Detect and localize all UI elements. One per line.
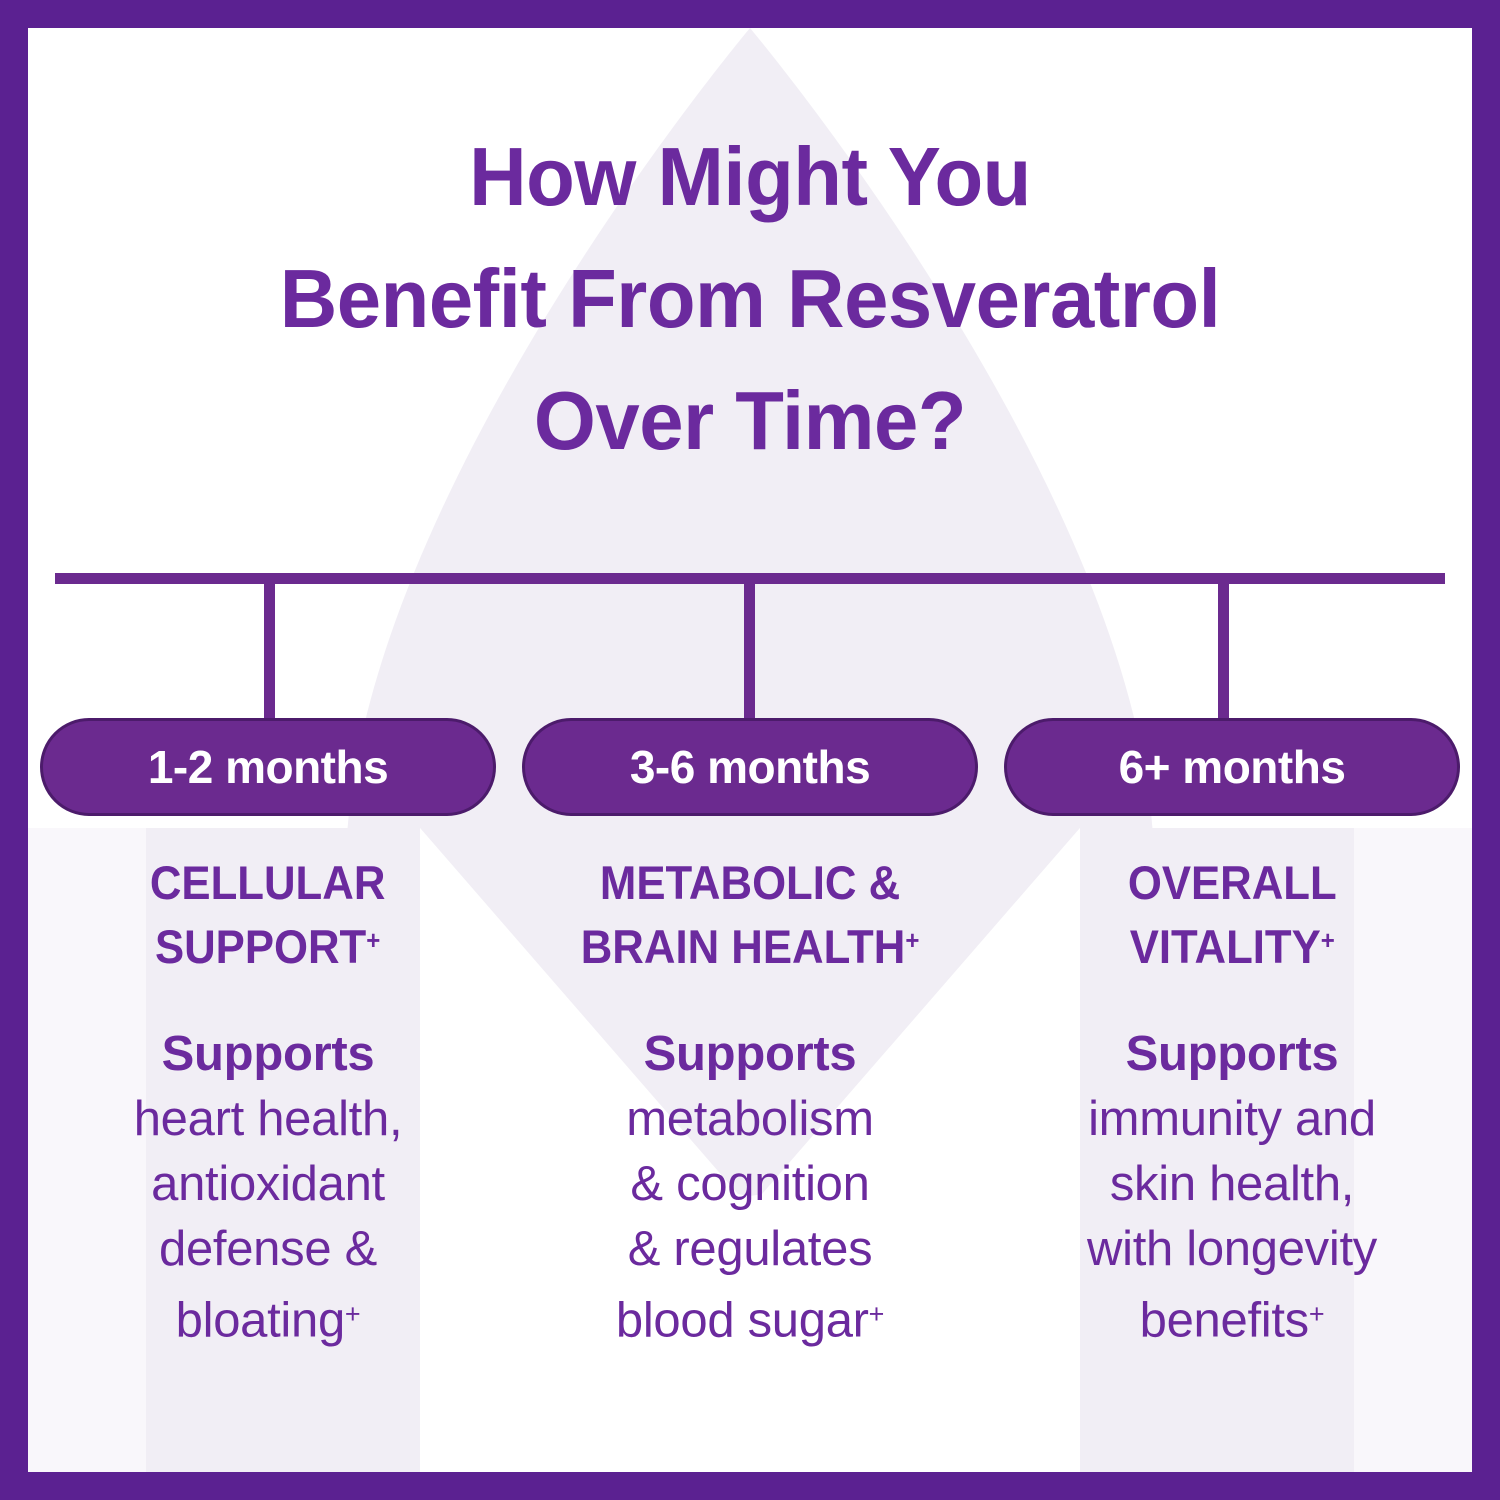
benefit-column-metabolic: 3-6 months METABOLIC & BRAIN HEALTH+ Sup… xyxy=(522,718,978,1354)
benefit-heading-1-line-2-text: SUPPORT xyxy=(155,920,366,973)
benefit-body-3-line-3: with longevity xyxy=(1087,1217,1377,1282)
benefit-body-1-marker: + xyxy=(345,1299,360,1329)
benefit-body-1-line-1: heart health, xyxy=(134,1087,403,1152)
timeline-connector-2 xyxy=(744,584,755,734)
benefit-body-3-line-1: immunity and xyxy=(1087,1087,1377,1152)
benefit-body-2-line-4-text: blood sugar xyxy=(616,1294,869,1348)
benefit-heading-3: OVERALL VITALITY+ xyxy=(1128,854,1337,976)
benefit-body-2: Supports metabolism & cognition & regula… xyxy=(616,1022,884,1353)
benefit-body-2-lead: Supports xyxy=(616,1022,884,1087)
page-title: How Might You Benefit From Resveratrol O… xyxy=(57,116,1443,482)
benefit-heading-1-line-1: CELLULAR xyxy=(150,854,386,912)
benefit-heading-3-line-1: OVERALL xyxy=(1128,854,1337,912)
infographic-frame: How Might You Benefit From Resveratrol O… xyxy=(0,0,1500,1500)
benefit-body-2-line-3: & regulates xyxy=(616,1217,884,1282)
benefit-body-1-line-4-text: bloating xyxy=(176,1294,345,1348)
benefit-body-1: Supports heart health, antioxidant defen… xyxy=(134,1022,403,1353)
benefit-body-1-lead: Supports xyxy=(134,1022,403,1087)
benefit-body-2-line-4: blood sugar+ xyxy=(616,1282,884,1353)
benefit-body-2-marker: + xyxy=(869,1299,884,1329)
timeframe-pill-2-label: 3-6 months xyxy=(630,740,870,794)
benefit-body-3-marker: + xyxy=(1309,1299,1324,1329)
timeline-connector-3 xyxy=(1218,584,1229,734)
benefit-body-1-line-3: defense & xyxy=(134,1217,403,1282)
infographic-canvas: How Might You Benefit From Resveratrol O… xyxy=(28,28,1472,1472)
benefit-body-1-line-4: bloating+ xyxy=(134,1282,403,1353)
title-line-3: Over Time? xyxy=(57,360,1443,482)
benefit-heading-3-line-2: VITALITY+ xyxy=(1128,912,1337,976)
benefit-body-2-line-2: & cognition xyxy=(616,1152,884,1217)
benefit-body-1-line-2: antioxidant xyxy=(134,1152,403,1217)
benefit-body-3-line-4-text: benefits xyxy=(1140,1294,1309,1348)
benefit-heading-1-marker: + xyxy=(367,927,381,955)
benefit-heading-2-line-1: METABOLIC & xyxy=(581,854,920,912)
timeframe-pill-3[interactable]: 6+ months xyxy=(1004,718,1460,816)
timeframe-pill-1[interactable]: 1-2 months xyxy=(40,718,496,816)
benefit-heading-1: CELLULAR SUPPORT+ xyxy=(150,854,386,976)
benefit-heading-1-line-2: SUPPORT+ xyxy=(150,912,386,976)
title-line-1: How Might You xyxy=(57,116,1443,238)
benefit-body-3-line-4: benefits+ xyxy=(1087,1282,1377,1353)
benefit-column-cellular: 1-2 months CELLULAR SUPPORT+ Supports he… xyxy=(40,718,496,1354)
benefit-heading-2-line-2: BRAIN HEALTH+ xyxy=(581,912,920,976)
benefit-heading-2-line-2-text: BRAIN HEALTH xyxy=(581,920,906,973)
benefit-heading-3-line-2-text: VITALITY xyxy=(1129,920,1320,973)
benefit-column-vitality: 6+ months OVERALL VITALITY+ Supports imm… xyxy=(1004,718,1460,1354)
benefit-heading-3-marker: + xyxy=(1320,927,1334,955)
timeframe-pill-2[interactable]: 3-6 months xyxy=(522,718,978,816)
benefit-columns: 1-2 months CELLULAR SUPPORT+ Supports he… xyxy=(28,718,1472,1354)
benefit-body-3-lead: Supports xyxy=(1087,1022,1377,1087)
timeframe-pill-1-label: 1-2 months xyxy=(148,740,388,794)
benefit-heading-2: METABOLIC & BRAIN HEALTH+ xyxy=(581,854,920,976)
benefit-heading-2-marker: + xyxy=(905,927,919,955)
timeline-connector-1 xyxy=(264,584,275,734)
benefit-body-3-line-2: skin health, xyxy=(1087,1152,1377,1217)
timeframe-pill-3-label: 6+ months xyxy=(1119,740,1346,794)
timeline-horizontal-bar xyxy=(55,573,1445,584)
benefit-body-2-line-1: metabolism xyxy=(616,1087,884,1152)
benefit-body-3: Supports immunity and skin health, with … xyxy=(1087,1022,1377,1353)
title-line-2: Benefit From Resveratrol xyxy=(57,238,1443,360)
